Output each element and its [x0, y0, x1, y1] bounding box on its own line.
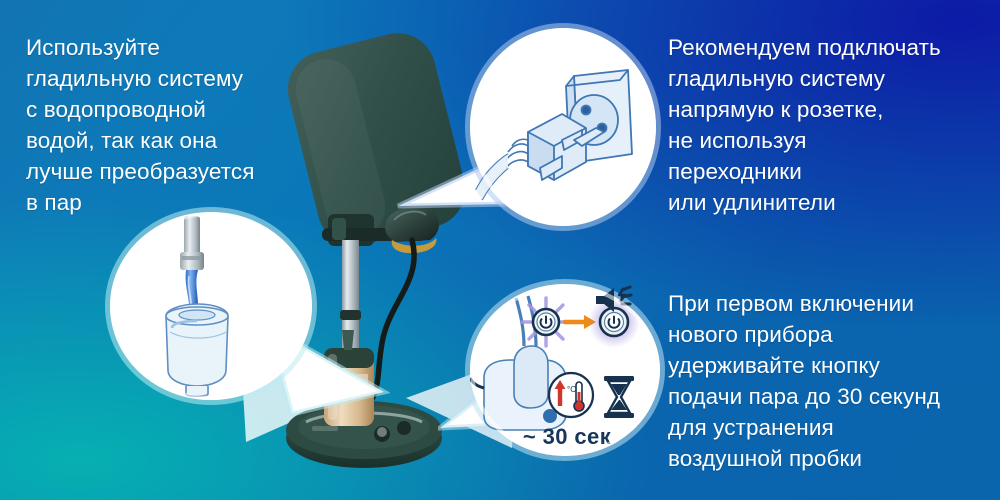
duration-caption: ~ 30 сек: [472, 424, 662, 450]
tip-socket-text: Рекомендуем подключать гладильную систем…: [668, 32, 998, 218]
bubble-plug-socket: [470, 28, 656, 226]
hourglass-icon: [604, 376, 634, 418]
bubble-power-sequence: °C ~ 30 сек: [470, 284, 660, 456]
bubble-water-filling: [110, 212, 312, 400]
thermometer-icon: °C: [549, 373, 593, 417]
infographic-canvas: Используйте гладильную систему с водопро…: [0, 0, 1000, 500]
tip-water-text: Используйте гладильную систему с водопро…: [26, 32, 326, 218]
tap-filling-tank-illustration: [110, 212, 312, 400]
svg-text:°C: °C: [567, 385, 576, 394]
tip-purge-text: При первом включении нового прибора удер…: [668, 288, 998, 474]
plug-and-socket-illustration: [470, 28, 656, 226]
